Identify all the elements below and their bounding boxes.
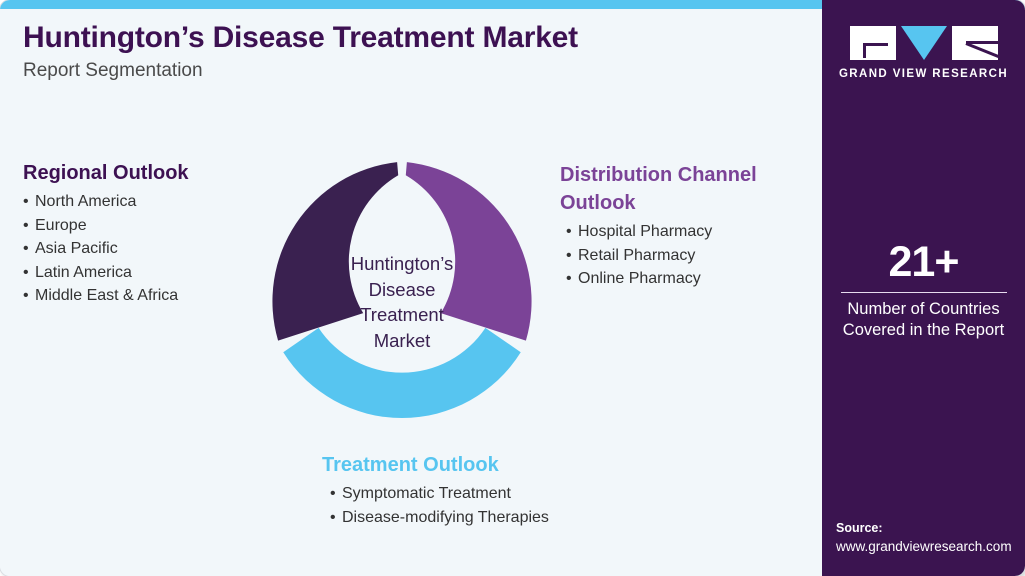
stat-label-line-1: Number of Countries xyxy=(822,299,1025,320)
list-item: •Latin America xyxy=(23,261,189,285)
countries-stat: 21+ Number of Countries Covered in the R… xyxy=(822,238,1025,341)
bullet-icon: • xyxy=(566,267,578,291)
treatment-outlook-list: •Symptomatic Treatment •Disease-modifyin… xyxy=(322,482,652,529)
bullet-icon: • xyxy=(23,261,35,285)
distribution-channel-outlook-block: Distribution Channel Outlook •Hospital P… xyxy=(560,161,810,291)
treatment-outlook-block: Treatment Outlook •Symptomatic Treatment… xyxy=(322,452,652,529)
header: Huntington’s Disease Treatment Market Re… xyxy=(23,20,783,83)
distribution-channel-outlook-heading: Distribution Channel Outlook xyxy=(560,161,760,217)
list-item-label: Disease-modifying Therapies xyxy=(342,509,549,526)
list-item-label: Online Pharmacy xyxy=(578,270,701,287)
source-title: Source: xyxy=(836,519,1025,537)
treatment-outlook-heading: Treatment Outlook xyxy=(322,452,652,479)
stat-divider xyxy=(841,292,1007,293)
list-item: •Symptomatic Treatment xyxy=(330,482,652,506)
list-item: •Europe xyxy=(23,214,189,238)
list-item-label: North America xyxy=(35,193,136,210)
page-title: Huntington’s Disease Treatment Market xyxy=(23,20,783,56)
bullet-icon: • xyxy=(330,482,342,506)
regional-outlook-heading: Regional Outlook xyxy=(23,160,189,187)
list-item-label: Retail Pharmacy xyxy=(578,247,695,264)
bullet-icon: • xyxy=(566,220,578,244)
infographic-canvas: Huntington’s Disease Treatment Market Re… xyxy=(0,0,1025,576)
page-subtitle: Report Segmentation xyxy=(23,59,783,83)
source-block: Source: www.grandviewresearch.com xyxy=(836,519,1025,556)
list-item: •Middle East & Africa xyxy=(23,284,189,308)
logo-letter-v-icon xyxy=(901,26,947,60)
logo-wordmark: GRAND VIEW RESEARCH xyxy=(839,68,1008,80)
list-item-label: Middle East & Africa xyxy=(35,287,178,304)
list-item-label: Europe xyxy=(35,217,87,234)
segmentation-donut-chart: Huntington’s Disease Treatment Market xyxy=(258,158,546,446)
stat-value: 21+ xyxy=(822,238,1025,286)
list-item-label: Asia Pacific xyxy=(35,240,118,257)
regional-outlook-list: •North America •Europe •Asia Pacific •La… xyxy=(23,190,189,308)
bullet-icon: • xyxy=(566,244,578,268)
list-item: •Hospital Pharmacy xyxy=(566,220,810,244)
donut-segment-regional xyxy=(272,162,398,341)
list-item: •Asia Pacific xyxy=(23,237,189,261)
logo-marks xyxy=(850,26,998,60)
side-panel: GRAND VIEW RESEARCH 21+ Number of Countr… xyxy=(822,0,1025,576)
distribution-channel-outlook-list: •Hospital Pharmacy •Retail Pharmacy •Onl… xyxy=(560,220,810,291)
list-item: •Online Pharmacy xyxy=(566,267,810,291)
donut-svg xyxy=(258,158,546,446)
bullet-icon: • xyxy=(23,237,35,261)
source-url[interactable]: www.grandviewresearch.com xyxy=(836,537,1025,556)
logo-letter-r-icon xyxy=(952,26,998,60)
list-item-label: Symptomatic Treatment xyxy=(342,485,511,502)
bullet-icon: • xyxy=(23,284,35,308)
list-item: •Retail Pharmacy xyxy=(566,244,810,268)
bullet-icon: • xyxy=(23,190,35,214)
donut-segment-distribution-channel xyxy=(406,162,532,341)
logo-letter-g-icon xyxy=(850,26,896,60)
bullet-icon: • xyxy=(330,506,342,530)
list-item-label: Latin America xyxy=(35,264,132,281)
list-item: •Disease-modifying Therapies xyxy=(330,506,652,530)
stat-label-line-2: Covered in the Report xyxy=(822,320,1025,341)
list-item-label: Hospital Pharmacy xyxy=(578,223,712,240)
regional-outlook-block: Regional Outlook •North America •Europe … xyxy=(23,160,189,308)
list-item: •North America xyxy=(23,190,189,214)
bullet-icon: • xyxy=(23,214,35,238)
donut-segment-treatment xyxy=(283,328,520,418)
brand-logo: GRAND VIEW RESEARCH xyxy=(822,26,1025,80)
